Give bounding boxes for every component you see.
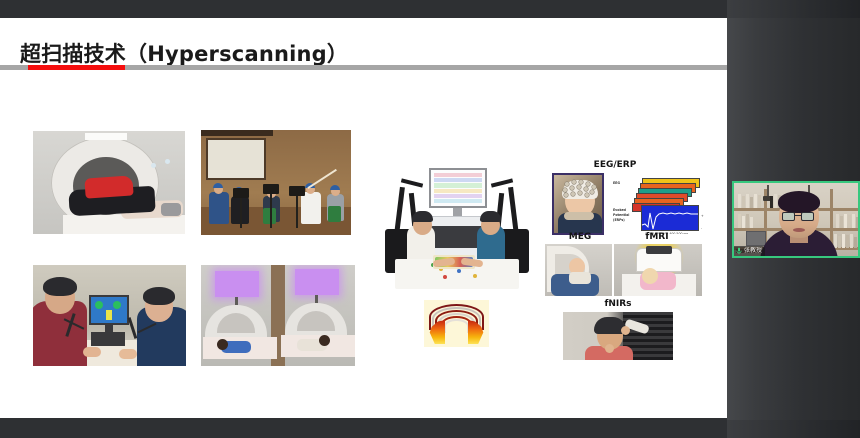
label-eeg-erp: EEG/ERP [560, 160, 670, 170]
label-meg: MEG [545, 232, 615, 242]
rail-top-cap [727, 0, 860, 18]
figure-dual-fnirs-children [377, 163, 537, 296]
participant-rail[interactable]: 张教授 [727, 0, 860, 438]
title-accent-bar [28, 65, 125, 70]
participant-name: 张教授 [744, 247, 762, 255]
figure-fmri-baby [614, 244, 702, 296]
figure-fnirs-adults [33, 265, 186, 366]
microphone-icon[interactable] [736, 247, 742, 255]
meeting-bottom-bar [0, 418, 727, 438]
shared-slide[interactable]: 超扫描技术（Hyperscanning） [0, 18, 727, 418]
figure-meg-baby [545, 244, 612, 296]
figure-brain-connectivity-heatmap [424, 300, 489, 347]
figure-eeg-baby [552, 173, 604, 235]
figure-infant-twin-mri [201, 265, 355, 366]
meeting-top-bar [0, 0, 727, 18]
participant-name-badge: 张教授 [734, 246, 765, 256]
label-fmri: fMRI [622, 232, 692, 242]
figure-erp-waveforms: EEG Evoked Potential (ERPs) + - 0 100 20… [612, 174, 704, 234]
participant-video-tile[interactable]: 张教授 [732, 181, 860, 258]
erp-trace [641, 205, 699, 231]
figure-eeg-ensemble [201, 130, 351, 235]
rail-bottom-cap [727, 420, 860, 438]
meeting-window: 超扫描技术（Hyperscanning） [0, 0, 860, 438]
page-title: 超扫描技术（Hyperscanning） [20, 38, 348, 68]
label-fnirs: fNIRs [583, 299, 653, 309]
figure-mri-adult [33, 131, 185, 234]
figure-fnirs-child [563, 312, 673, 360]
